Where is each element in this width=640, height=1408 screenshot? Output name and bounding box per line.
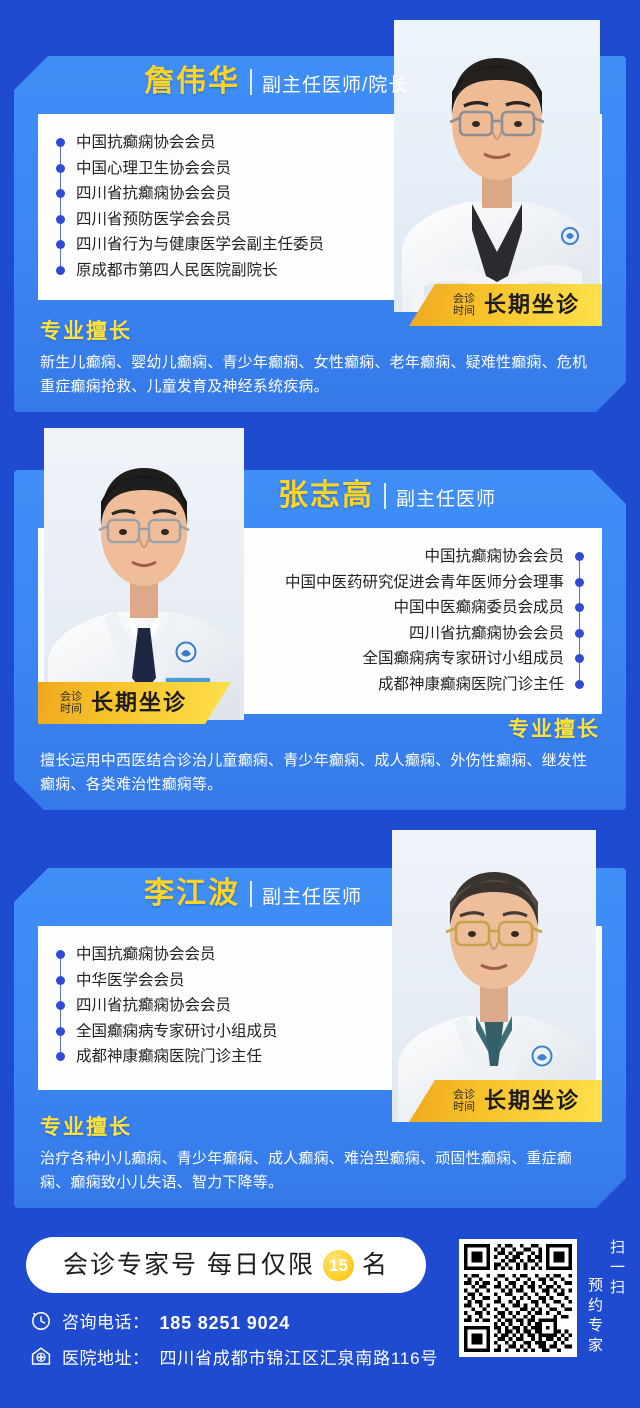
list-item: 中国中医药研究促进会青年医师分会理事 [204,570,584,596]
list-item: 四川省抗癫痫协会会员 [204,621,584,647]
appointment-cta-button[interactable]: 会诊专家号 每日仅限 15 名 [26,1237,426,1293]
bullet-dot-icon [575,654,584,663]
schedule-label-line2: 时间 [453,1101,475,1113]
hospital-home-icon [30,1345,52,1372]
credential-text: 中国中医药研究促进会青年医师分会理事 [285,575,564,591]
cta-suffix: 名 [362,1253,389,1278]
status-badge: 15 [323,1250,354,1281]
phone-row[interactable]: 咨询电话： 185 8251 9024 [30,1309,438,1336]
bullet-dot-icon [56,240,65,249]
credential-text: 中国抗癫痫协会会员 [76,135,216,151]
schedule-banner-2: 会诊 时间 长期坐诊 [38,682,231,724]
doctor-title: 副主任医师 [262,888,362,907]
bullet-dot-icon [56,215,65,224]
schedule-label: 会诊 时间 [453,293,475,318]
credential-text: 四川省抗癫痫协会会员 [76,186,231,202]
list-item: 原成都市第四人民医院副院长 [56,258,386,284]
doctor-title: 副主任医师 [396,490,496,509]
schedule-banner-3: 会诊 时间 长期坐诊 [409,1080,602,1122]
address-row[interactable]: 医院地址： 四川省成都市锦江区汇泉南路116号 [30,1345,438,1372]
credential-text: 四川省抗癫痫协会会员 [409,626,564,642]
bullet-dot-icon [575,629,584,638]
specialty-block-1: 专业擅长 新生儿癫痫、婴幼儿癫痫、青少年癫痫、女性癫痫、老年癫痫、疑难性癫痫、危… [40,319,600,398]
list-item: 四川省抗癫痫协会会员 [56,181,386,207]
qr-label-bottom: 预约专家 [587,1277,602,1357]
doctor-name: 张志高 [278,481,374,511]
list-item: 中国抗癫痫协会会员 [56,942,386,968]
list-item: 全国癫痫病专家研讨小组成员 [56,1019,386,1045]
schedule-banner-1: 会诊 时间 长期坐诊 [409,284,602,326]
list-item: 成都神康癫痫医院门诊主任 [204,672,584,698]
specialty-block-3: 专业擅长 治疗各种小儿癫痫、青少年癫痫、成人癫痫、难治型癫痫、顽固性癫痫、重症癫… [40,1115,600,1194]
schedule-label-line2: 时间 [453,305,475,317]
promo-page: 詹伟华 副主任医师/院长 中国抗癫痫协会会员 中国心理卫生协会会员 四川省抗癫痫… [0,0,640,1408]
credential-text: 全国癫痫病专家研讨小组成员 [362,651,564,667]
bullet-dot-icon [56,1027,65,1036]
credential-text: 中国抗癫痫协会会员 [76,947,216,963]
contact-info: 咨询电话： 185 8251 9024 医院地址： 四川省成都市锦江区汇泉南路1… [30,1309,438,1372]
list-item: 四川省预防医学会会员 [56,207,386,233]
bullet-dot-icon [575,680,584,689]
specialty-text: 新生儿癫痫、婴幼儿癫痫、青少年癫痫、女性癫痫、老年癫痫、疑难性癫痫、危机重症癫痫… [40,351,600,398]
credential-text: 中国中医癫痫委员会成员 [393,600,564,616]
name-separator [384,483,386,509]
credential-text: 成都神康癫痫医院门诊主任 [378,677,564,693]
name-separator [250,69,252,95]
bullet-dot-icon [56,950,65,959]
doctor-card-2: 张志高 副主任医师 中国抗癫痫协会会员 中国中医药研究促进会青年医师分会理事 中… [14,470,626,810]
qr-section[interactable]: 预约专家 扫一扫 [459,1239,624,1357]
credential-text: 原成都市第四人民医院副院长 [76,263,278,279]
schedule-value: 长期坐诊 [484,1090,580,1112]
credential-text: 中国心理卫生协会会员 [76,161,231,177]
bullet-dot-icon [56,976,65,985]
address-value: 四川省成都市锦江区汇泉南路116号 [160,1350,439,1367]
bullet-dot-icon [56,189,65,198]
schedule-label-line1: 会诊 [453,1089,475,1101]
credential-text: 四川省行为与健康医学会副主任委员 [76,237,324,253]
list-item: 成都神康癫痫医院门诊主任 [56,1044,386,1070]
doctor-photo-3 [392,830,596,1122]
doctor-name: 李江波 [144,879,240,909]
phone-value: 185 8251 9024 [160,1314,291,1332]
doctor-card-1: 詹伟华 副主任医师/院长 中国抗癫痫协会会员 中国心理卫生协会会员 四川省抗癫痫… [14,56,626,412]
bullet-dot-icon [575,578,584,587]
list-item: 全国癫痫病专家研讨小组成员 [204,646,584,672]
list-item: 中国抗癫痫协会会员 [204,544,584,570]
qr-labels: 预约专家 扫一扫 [587,1239,624,1357]
schedule-label: 会诊 时间 [60,691,82,716]
specialty-text: 治疗各种小儿癫痫、青少年癫痫、成人癫痫、难治型癫痫、顽固性癫痫、重症癫痫、癫痫致… [40,1147,600,1194]
schedule-label: 会诊 时间 [453,1089,475,1114]
credentials-list: 中国抗癫痫协会会员 中国心理卫生协会会员 四川省抗癫痫协会会员 四川省预防医学会… [56,130,386,283]
doctor-title: 副主任医师/院长 [262,76,408,95]
list-item: 中华医学会会员 [56,968,386,994]
list-item: 四川省抗癫痫协会会员 [56,993,386,1019]
list-item: 中国心理卫生协会会员 [56,156,386,182]
credentials-list: 中国抗癫痫协会会员 中华医学会会员 四川省抗癫痫协会会员 全国癫痫病专家研讨小组… [56,942,386,1070]
list-item: 中国抗癫痫协会会员 [56,130,386,156]
specialty-text: 擅长运用中西医结合诊治儿童癫痫、青少年癫痫、成人癫痫、外伤性癫痫、继发性癫痫、各… [40,749,600,796]
schedule-label-line1: 会诊 [453,293,475,305]
bullet-dot-icon [56,266,65,275]
clock-icon [30,1309,52,1336]
doctor-name: 詹伟华 [144,67,240,97]
schedule-value: 长期坐诊 [484,294,580,316]
doctor-photo-2 [44,428,244,720]
list-item: 中国中医癫痫委员会成员 [204,595,584,621]
credential-text: 中华医学会会员 [76,973,185,989]
doctor-photo-1 [394,20,600,312]
bullet-dot-icon [575,552,584,561]
credential-text: 全国癫痫病专家研讨小组成员 [76,1024,278,1040]
phone-label: 咨询电话： [62,1314,150,1331]
schedule-label-line2: 时间 [60,703,82,715]
cta-prefix: 会诊专家号 每日仅限 [63,1253,315,1278]
bullet-dot-icon [56,164,65,173]
qr-code-icon[interactable] [459,1239,577,1357]
list-item: 四川省行为与健康医学会副主任委员 [56,232,386,258]
address-label: 医院地址： [62,1350,150,1367]
schedule-label-line1: 会诊 [60,691,82,703]
credential-text: 中国抗癫痫协会会员 [424,549,564,565]
name-separator [250,881,252,907]
bullet-dot-icon [56,1052,65,1061]
bullet-dot-icon [56,1001,65,1010]
bullet-dot-icon [575,603,584,612]
credential-text: 四川省抗癫痫协会会员 [76,998,231,1014]
schedule-value: 长期坐诊 [91,692,187,714]
footer: 会诊专家号 每日仅限 15 名 咨询电话： 185 8251 9024 [0,1223,640,1408]
credential-text: 成都神康癫痫医院门诊主任 [76,1049,262,1065]
doctor-card-3: 李江波 副主任医师 中国抗癫痫协会会员 中华医学会会员 四川省抗癫痫协会会员 全… [14,868,626,1208]
specialty-block-2: 专业擅长 擅长运用中西医结合诊治儿童癫痫、青少年癫痫、成人癫痫、外伤性癫痫、继发… [40,717,600,796]
credential-text: 四川省预防医学会会员 [76,212,231,228]
qr-label-top: 扫一扫 [609,1239,624,1357]
credentials-list: 中国抗癫痫协会会员 中国中医药研究促进会青年医师分会理事 中国中医癫痫委员会成员… [204,544,584,697]
bullet-dot-icon [56,138,65,147]
